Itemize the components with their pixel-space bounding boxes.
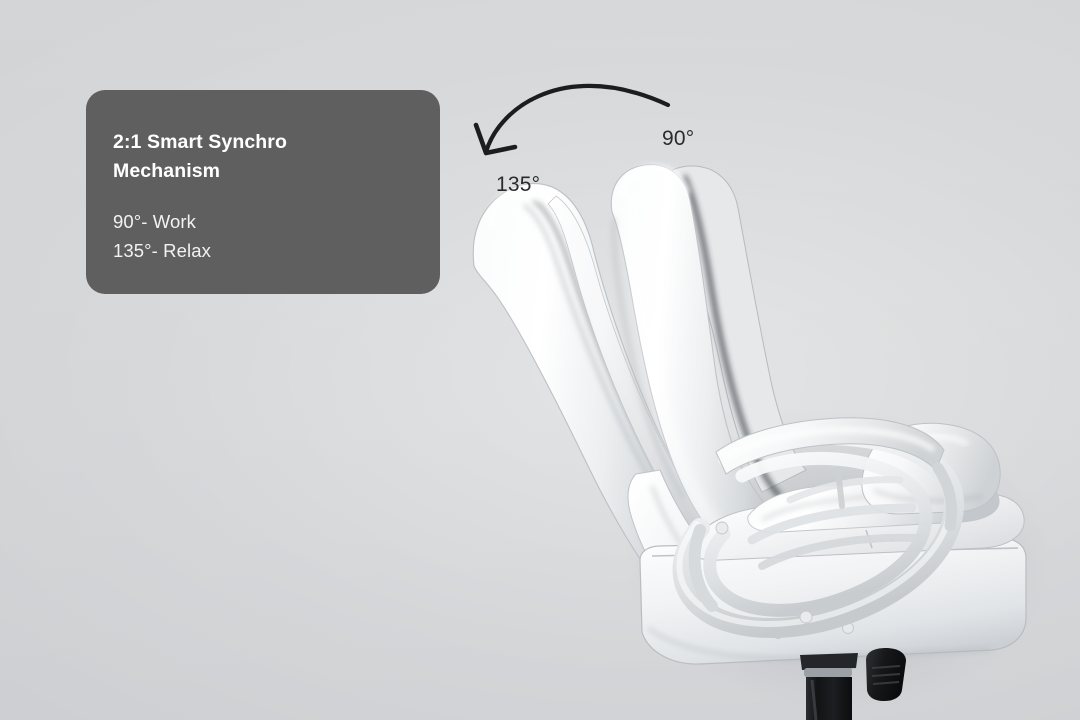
strut-vertical <box>838 470 842 506</box>
card-line-work: 90°- Work <box>113 208 410 237</box>
armrest-pivot-upper <box>716 522 728 534</box>
angle-label-90: 90° <box>662 127 694 151</box>
cylinder-collar <box>800 653 858 670</box>
info-card: 2:1 Smart Synchro Mechanism 90°- Work 13… <box>86 90 440 294</box>
card-line-relax: 135°- Relax <box>113 237 410 266</box>
cylinder-chrome-ring <box>804 668 852 677</box>
product-feature-graphic: 2:1 Smart Synchro Mechanism 90°- Work 13… <box>0 0 1080 720</box>
angle-label-135: 135° <box>496 173 540 197</box>
card-title: 2:1 Smart Synchro Mechanism <box>113 128 410 186</box>
armrest-pivot-lower <box>800 611 812 623</box>
